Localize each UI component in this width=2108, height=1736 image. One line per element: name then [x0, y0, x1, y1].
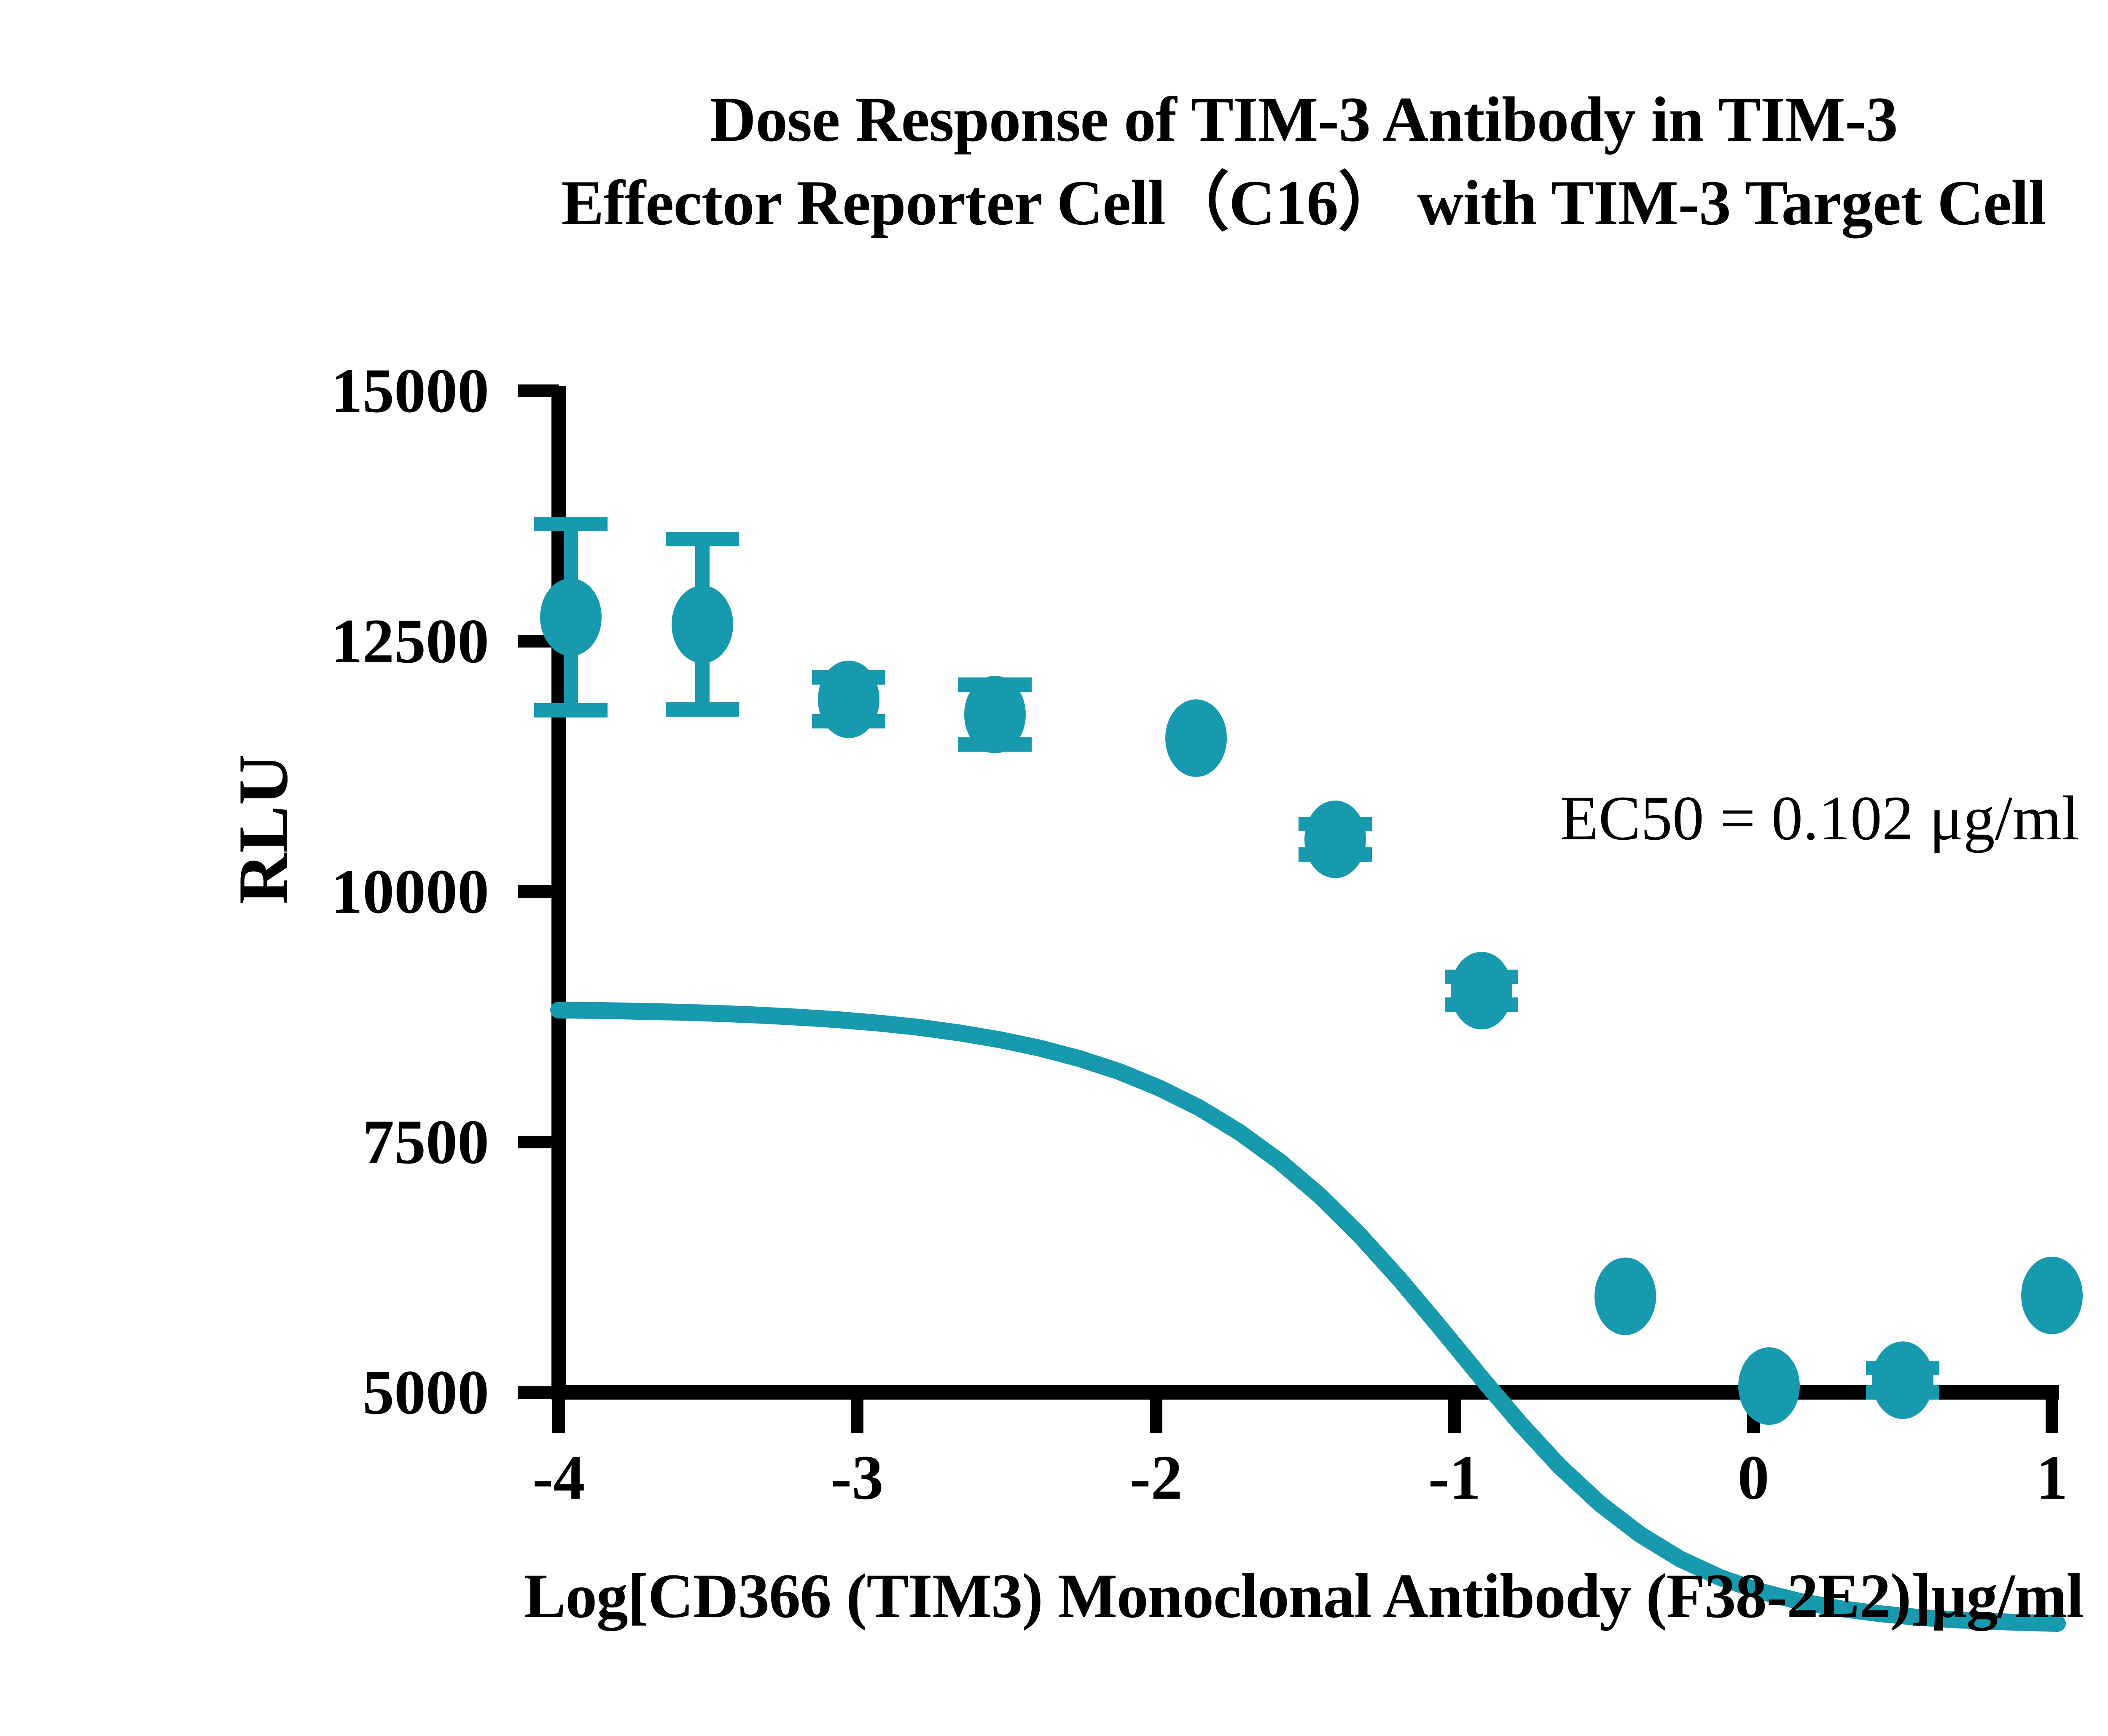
fit-curve: [559, 1010, 2057, 1623]
data-point: [1451, 952, 1512, 1029]
data-point: [1304, 801, 1366, 878]
data-point: [2021, 1257, 2083, 1334]
data-points: [540, 578, 2083, 1425]
error-bars: [534, 524, 1939, 1392]
data-point: [818, 661, 879, 738]
x-tick-label: -3: [794, 1446, 920, 1509]
x-tick-label: -2: [1093, 1446, 1219, 1509]
data-point: [1165, 699, 1227, 777]
x-tick-label: -4: [495, 1446, 622, 1509]
data-point: [964, 676, 1026, 753]
y-tick-label: 10000: [253, 860, 489, 923]
data-point: [672, 586, 733, 663]
data-point: [1594, 1258, 1656, 1335]
x-tick-label: 0: [1690, 1446, 1817, 1509]
x-tick-label: -1: [1391, 1446, 1518, 1509]
axis-lines: [551, 386, 2059, 1397]
data-point: [540, 578, 602, 656]
y-tick-label: 15000: [253, 359, 489, 422]
x-axis-title: Log[CD366 (TIM3) Monoclonal Antibody (F3…: [0, 1560, 2108, 1632]
y-tick-label: 12500: [253, 610, 489, 673]
y-tick-label: 7500: [253, 1110, 489, 1174]
data-point: [1872, 1341, 1933, 1419]
dose-response-figure: Dose Response of TIM-3 Antibody in TIM-3…: [0, 0, 2108, 1736]
data-point: [1738, 1347, 1800, 1425]
x-tick-label: 1: [1989, 1446, 2108, 1509]
y-tick-label: 5000: [253, 1361, 489, 1424]
ec50-annotation: EC50 = 0.102 μg/ml: [1560, 782, 2079, 855]
